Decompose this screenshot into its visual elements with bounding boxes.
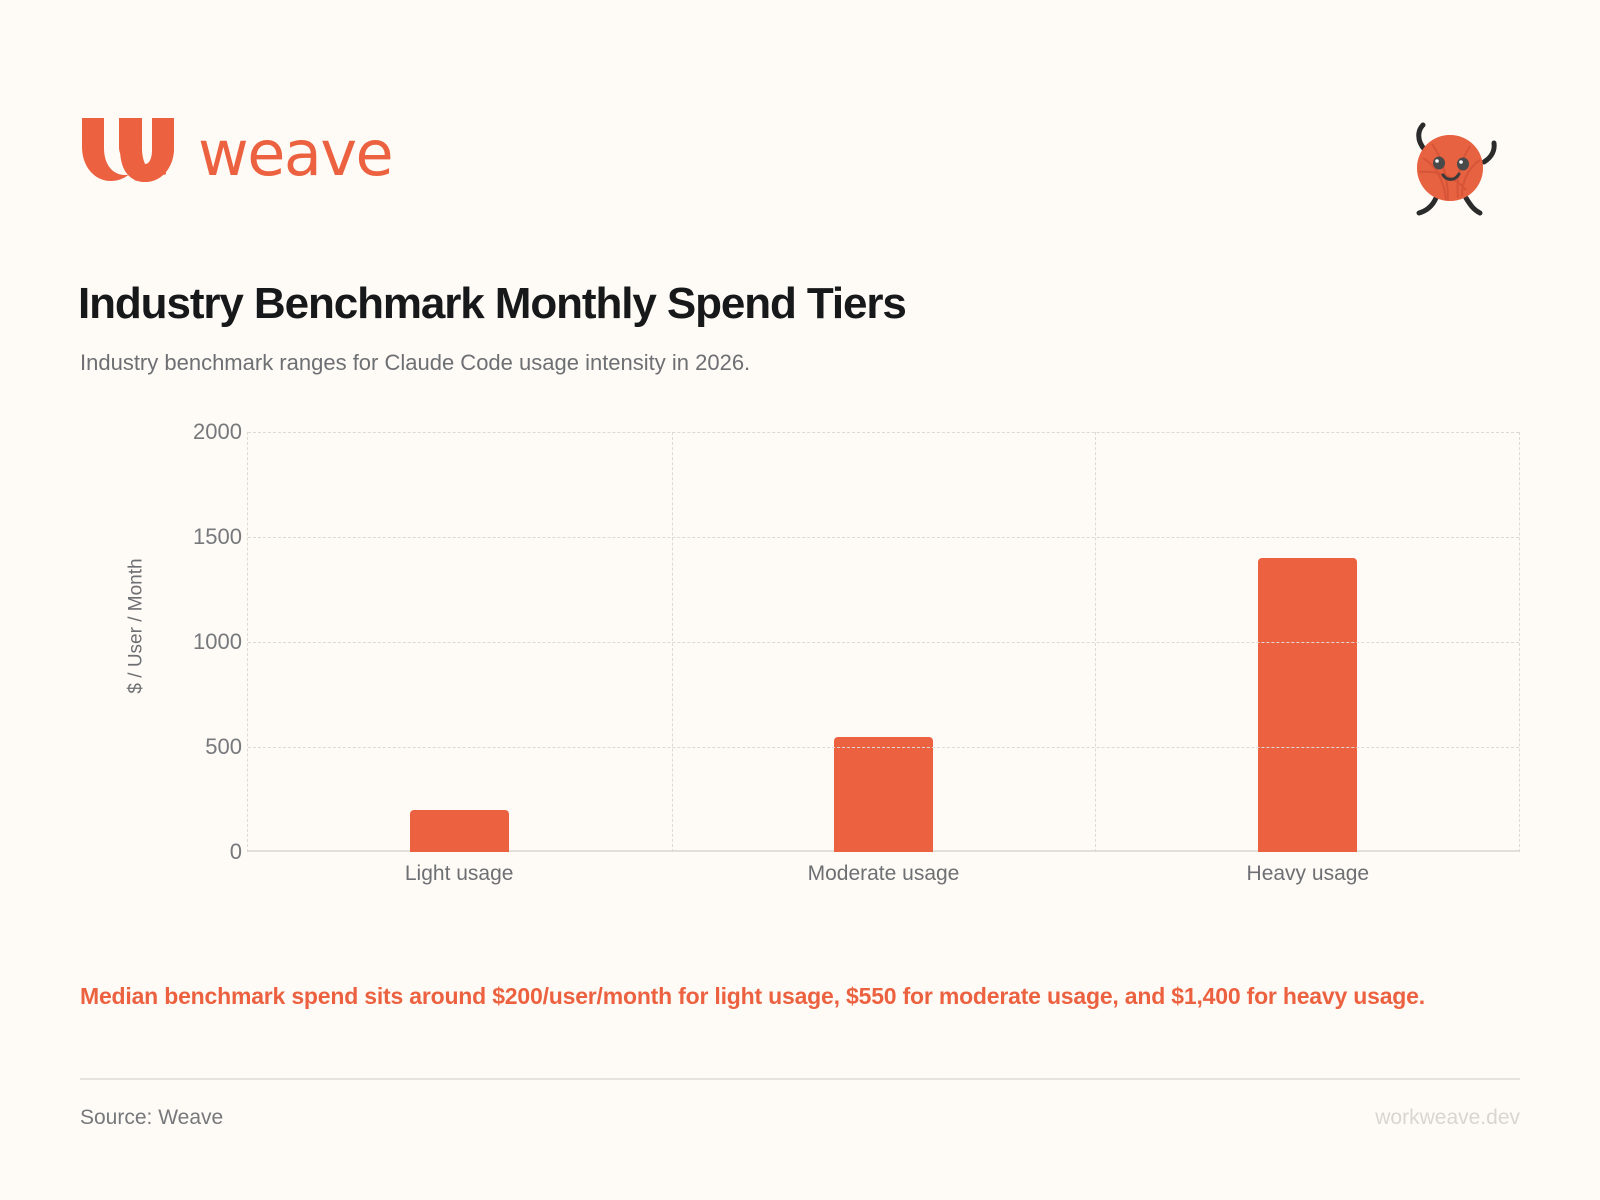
y-axis-tick-label: 1000 [154, 631, 242, 653]
yarn-ball-mascot-icon [1392, 110, 1502, 220]
gridline [248, 432, 1519, 433]
weave-w-mark-icon [80, 116, 176, 192]
brand-lockup: weave [80, 116, 392, 192]
footer-site: workweave.dev [1375, 1106, 1520, 1130]
brand-wordmark: weave [198, 123, 392, 185]
footer-source: Source: Weave [80, 1106, 223, 1130]
bar[interactable] [834, 737, 933, 853]
gridline [248, 642, 1519, 643]
x-axis-tick-label: Moderate usage [671, 862, 1095, 886]
x-axis-tick-label: Light usage [247, 862, 671, 886]
y-axis-tick-label: 1500 [154, 526, 242, 548]
page-footer: Source: Weave workweave.dev [80, 1098, 1520, 1138]
bar[interactable] [1258, 558, 1357, 852]
gridline [248, 537, 1519, 538]
y-axis-title-label: $ / User / Month [126, 558, 148, 693]
gridline [248, 747, 1519, 748]
x-axis-tick-label: Heavy usage [1096, 862, 1520, 886]
plot-area [247, 432, 1520, 852]
y-axis-title: $ / User / Month [124, 400, 150, 852]
footer-divider [80, 1078, 1520, 1080]
page-title: Industry Benchmark Monthly Spend Tiers [78, 278, 906, 330]
gridline-vertical [672, 432, 673, 852]
y-axis-tick-labels: 0500100015002000 [154, 400, 242, 852]
y-axis-tick-label: 0 [154, 841, 242, 863]
bar[interactable] [410, 810, 509, 852]
infographic-page: weave Industry Ben [0, 0, 1600, 1200]
page-header: weave [80, 110, 1520, 210]
x-axis-tick-labels: Light usageModerate usageHeavy usage [247, 862, 1520, 886]
y-axis-tick-label: 2000 [154, 421, 242, 443]
gridline-vertical [1095, 432, 1096, 852]
bar-chart: $ / User / Month 0500100015002000 Light … [80, 400, 1520, 900]
insight-callout: Median benchmark spend sits around $200/… [80, 978, 1480, 1015]
y-axis-tick-label: 500 [154, 736, 242, 758]
page-subtitle: Industry benchmark ranges for Claude Cod… [80, 348, 750, 378]
